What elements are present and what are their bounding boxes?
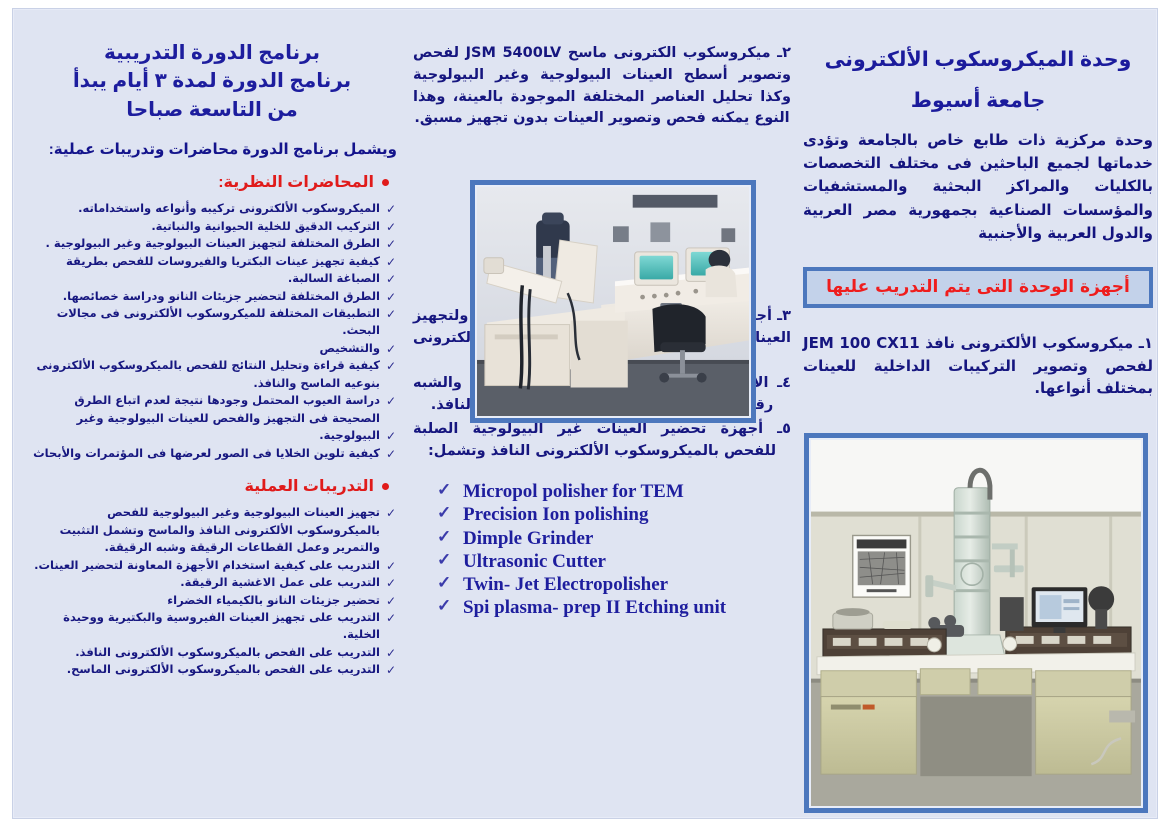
practical-list-item: ✓التدريب على الفحص بالميكروسكوب الألكترو… <box>27 661 397 678</box>
theory-list-item: ✓كيفية قراءة وتحليل النتائج للفحص بالميك… <box>27 357 397 392</box>
university-name: جامعة أسيوط <box>803 88 1153 113</box>
scanning-electron-microscope-lab-photo <box>477 187 749 416</box>
check-icon: ✓ <box>386 445 396 463</box>
practical-list-item-label: تجهيز العينات البيولوجية وغير البيولوجية… <box>60 505 380 554</box>
practical-section-label: التدريبات العملية <box>244 478 374 495</box>
theory-list-item-label: كيفية تجهيز عينات البكتريا والفيروسات لل… <box>66 254 380 268</box>
tem-photo-frame <box>804 433 1148 813</box>
check-icon: ✓ <box>386 392 396 410</box>
training-equipment-banner: أجهزة الوحدة التى يتم التدريب عليها <box>803 267 1153 308</box>
practical-list-item: ✓التدريب على تجهيز العينات الفيروسية وال… <box>27 609 397 644</box>
theory-list-item: ✓التطبيقات المختلفة للميكروسكوب الألكترو… <box>27 305 397 340</box>
practical-list-item-label: التدريب على عمل الاغشية الرقيقة. <box>180 575 380 589</box>
item-2-sem-description: ٢ـ ميكروسكوب الكترونى ماسح JSM 5400LV لف… <box>413 43 791 130</box>
check-icon: ✓ <box>386 218 396 236</box>
training-program-column: برنامج الدورة التدريبية برنامج الدورة لم… <box>27 39 397 679</box>
check-icon: ✓ <box>437 550 451 571</box>
practical-list-item: ✓التدريب على عمل الاغشية الرقيقة. <box>27 574 397 591</box>
item-1-tem-description: ١ـ ميكروسكوب الألكترونى نافذ JEM 100 CX1… <box>803 332 1153 400</box>
program-intro-text: ويشمل برنامج الدورة محاضرات وتدريبات عمل… <box>27 140 397 158</box>
theory-list-item-label: والتشخيص <box>320 341 380 355</box>
check-icon: ✓ <box>386 504 396 522</box>
practical-list-item: ✓تجهيز العينات البيولوجية وغير البيولوجي… <box>27 504 397 556</box>
theory-list-item: ✓الطرق المختلفة لتحضير جزيئات النانو ودر… <box>27 288 397 305</box>
sem-photo-frame <box>470 180 756 423</box>
theory-list-item: ✓التركيب الدقيق للخلية الحيوانية والنبات… <box>27 218 397 235</box>
theory-list-item: ✓الطرق المختلفة لتجهيز العينات البيولوجي… <box>27 235 397 252</box>
practical-list-item: ✓تحضير جزيئات النانو بالكيمياء الخضراء <box>27 592 397 609</box>
training-equipment-banner-text: أجهزة الوحدة التى يتم التدريب عليها <box>826 277 1130 297</box>
program-title-block: برنامج الدورة التدريبية برنامج الدورة لم… <box>27 39 397 124</box>
brochure-sheet: برنامج الدورة التدريبية برنامج الدورة لم… <box>12 8 1158 819</box>
program-title-line-3: من التاسعة صباحا <box>27 96 397 124</box>
check-icon: ✓ <box>386 592 396 610</box>
check-icon: ✓ <box>386 609 396 627</box>
practical-list-item-label: التدريب على تجهيز العينات الفيروسية والب… <box>63 610 380 641</box>
theory-list-item-label: الميكروسكوب الألكترونى تركيبه وأنواعه وا… <box>78 201 380 215</box>
check-icon: ✓ <box>386 357 396 375</box>
check-icon: ✓ <box>386 644 396 662</box>
equipment-list-item: ✓Ultrasonic Cutter <box>435 550 791 573</box>
theory-list-item-label: كيفية قراءة وتحليل النتائج للفحص بالميكر… <box>37 358 380 389</box>
equipment-list-item: ✓Dimple Grinder <box>435 527 791 550</box>
check-icon: ✓ <box>386 253 396 271</box>
equipment-list-item-label: Micropol polisher for TEM <box>463 481 684 502</box>
check-icon: ✓ <box>386 340 396 358</box>
theory-list-item: ✓الصباغة السالبة. <box>27 270 397 287</box>
theory-list-item-label: كيفية تلوين الخلايا فى الصور لعرضها فى ا… <box>33 446 380 460</box>
practical-list-item-label: تحضير جزيئات النانو بالكيمياء الخضراء <box>167 593 380 607</box>
theory-list-item: ✓كيفية تجهيز عينات البكتريا والفيروسات ل… <box>27 253 397 270</box>
theory-section-label: المحاضرات النظرية: <box>218 174 374 191</box>
equipment-list-item-label: Precision Ion polishing <box>463 504 648 525</box>
brochure-page: برنامج الدورة التدريبية برنامج الدورة لم… <box>0 0 1170 827</box>
check-icon: ✓ <box>386 557 396 575</box>
equipment-list-item-label: Ultrasonic Cutter <box>463 551 606 572</box>
check-icon: ✓ <box>437 503 451 524</box>
practical-training-list: ✓تجهيز العينات البيولوجية وغير البيولوجي… <box>27 504 397 679</box>
check-icon: ✓ <box>386 235 396 253</box>
check-icon: ✓ <box>386 270 396 288</box>
equipment-list-item: ✓Spi plasma- prep II Etching unit <box>435 596 791 619</box>
theory-list-item: ✓كيفية تلوين الخلايا فى الصور لعرضها فى … <box>27 445 397 462</box>
check-icon: ✓ <box>437 527 451 548</box>
check-icon: ✓ <box>437 596 451 617</box>
theory-list-item: ✓البيولوجية. <box>27 427 397 444</box>
theory-list-item-label: دراسة العيوب المحتمل وجودها نتيجة لعدم ا… <box>74 393 380 424</box>
equipment-name-list: ✓Micropol polisher for TEM✓Precision Ion… <box>435 480 791 619</box>
program-title-line-2: برنامج الدورة لمدة ٣ أيام يبدأ <box>27 67 397 95</box>
unit-description: وحدة مركزية ذات طابع خاص بالجامعة وتؤدى … <box>803 129 1153 245</box>
practical-list-item-label: التدريب على الفحص بالميكروسكوب الألكترون… <box>67 662 380 676</box>
theory-list-item: ✓دراسة العيوب المحتمل وجودها نتيجة لعدم … <box>27 392 397 427</box>
theory-list-item-label: الطرق المختلفة لتجهيز العينات البيولوجية… <box>46 236 380 250</box>
practical-list-item-label: التدريب على كيفية استخدام الأجهزة المعاو… <box>34 558 380 572</box>
equipment-list-item: ✓Precision Ion polishing <box>435 503 791 526</box>
practical-section-heading: التدريبات العملية <box>27 476 397 496</box>
check-icon: ✓ <box>386 200 396 218</box>
practical-list-item: ✓التدريب على الفحص بالميكروسكوب الألكترو… <box>27 644 397 661</box>
theory-list-item-label: التركيب الدقيق للخلية الحيوانية والنباتي… <box>151 219 380 233</box>
theory-lecture-list: ✓الميكروسكوب الألكترونى تركيبه وأنواعه و… <box>27 200 397 462</box>
transmission-electron-microscope-photo <box>811 440 1141 806</box>
theory-list-item-label: الطرق المختلفة لتحضير جزيئات النانو ودرا… <box>63 289 380 303</box>
equipment-list-item-label: Dimple Grinder <box>463 528 593 549</box>
equipment-list-item: ✓Twin- Jet Electropolisher <box>435 573 791 596</box>
check-icon: ✓ <box>386 305 396 323</box>
check-icon: ✓ <box>437 573 451 594</box>
item-5-nonbio-preparation-description: ٥ـ أجهزة تحضير العينات غير البيولوجية ال… <box>413 419 791 463</box>
theory-list-item-label: التطبيقات المختلفة للميكروسكوب الألكترون… <box>57 306 380 337</box>
practical-list-item: ✓التدريب على كيفية استخدام الأجهزة المعا… <box>27 557 397 574</box>
practical-list-item-label: التدريب على الفحص بالميكروسكوب الألكترون… <box>75 645 380 659</box>
equipment-list-item-label: Spi plasma- prep II Etching unit <box>463 597 726 618</box>
equipment-list-item: ✓Micropol polisher for TEM <box>435 480 791 503</box>
program-title-line-1: برنامج الدورة التدريبية <box>27 39 397 67</box>
theory-section-heading: المحاضرات النظرية: <box>27 172 397 192</box>
check-icon: ✓ <box>386 574 396 592</box>
bullet-icon <box>382 483 389 490</box>
theory-list-item: ✓والتشخيص <box>27 340 397 357</box>
unit-title: وحدة الميكروسكوب الألكترونى <box>803 45 1153 76</box>
check-icon: ✓ <box>437 480 451 501</box>
check-icon: ✓ <box>386 427 396 445</box>
check-icon: ✓ <box>386 288 396 306</box>
equipment-list-item-label: Twin- Jet Electropolisher <box>463 574 668 595</box>
unit-info-column: وحدة الميكروسكوب الألكترونى جامعة أسيوط … <box>803 45 1153 400</box>
theory-list-item-label: الصباغة السالبة. <box>288 271 380 285</box>
theory-list-item: ✓الميكروسكوب الألكترونى تركيبه وأنواعه و… <box>27 200 397 217</box>
check-icon: ✓ <box>386 661 396 679</box>
bullet-icon <box>382 179 389 186</box>
theory-list-item-label: البيولوجية. <box>319 428 380 442</box>
